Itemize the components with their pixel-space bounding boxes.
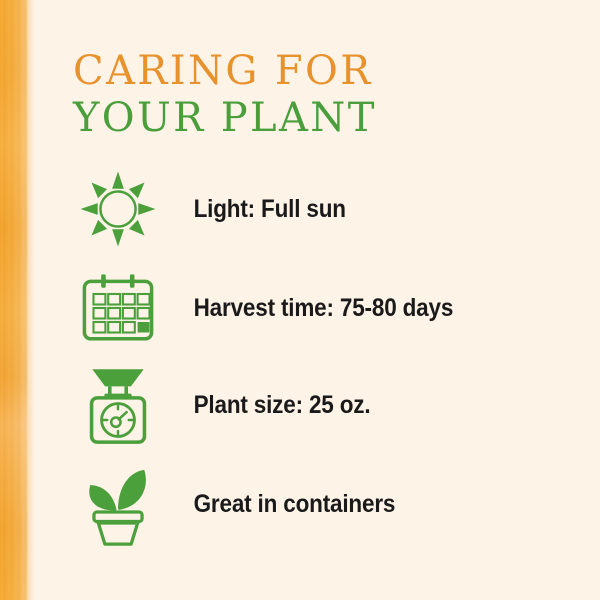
stripe-edge-fade [28,0,35,600]
stripe-texture [0,0,28,600]
calendar-icon [73,262,163,354]
potted-plant-icon [73,458,163,550]
care-row-plant-size: Plant size: 25 oz. [73,359,543,451]
care-row-light: Light: Full sun [73,163,543,255]
scale-icon [73,359,163,451]
title-line-caring-for: CARING FOR [73,48,533,95]
care-row-containers: Great in containers [73,458,543,550]
care-row-light-label: Light: Full sun [163,195,505,224]
page-title: CARING FOR YOUR PLANT [73,48,533,142]
title-line-your-plant: YOUR PLANT [73,95,533,142]
care-row-harvest-time: Harvest time: 75-80 days [73,262,543,354]
left-orange-stripe [0,0,28,600]
care-row-harvest-time-label: Harvest time: 75-80 days [163,294,505,323]
care-row-plant-size-label: Plant size: 25 oz. [163,391,505,420]
care-row-containers-label: Great in containers [163,490,505,519]
sun-icon [73,163,163,255]
care-info-card: CARING FOR YOUR PLANT Light: Full sun [0,0,600,600]
